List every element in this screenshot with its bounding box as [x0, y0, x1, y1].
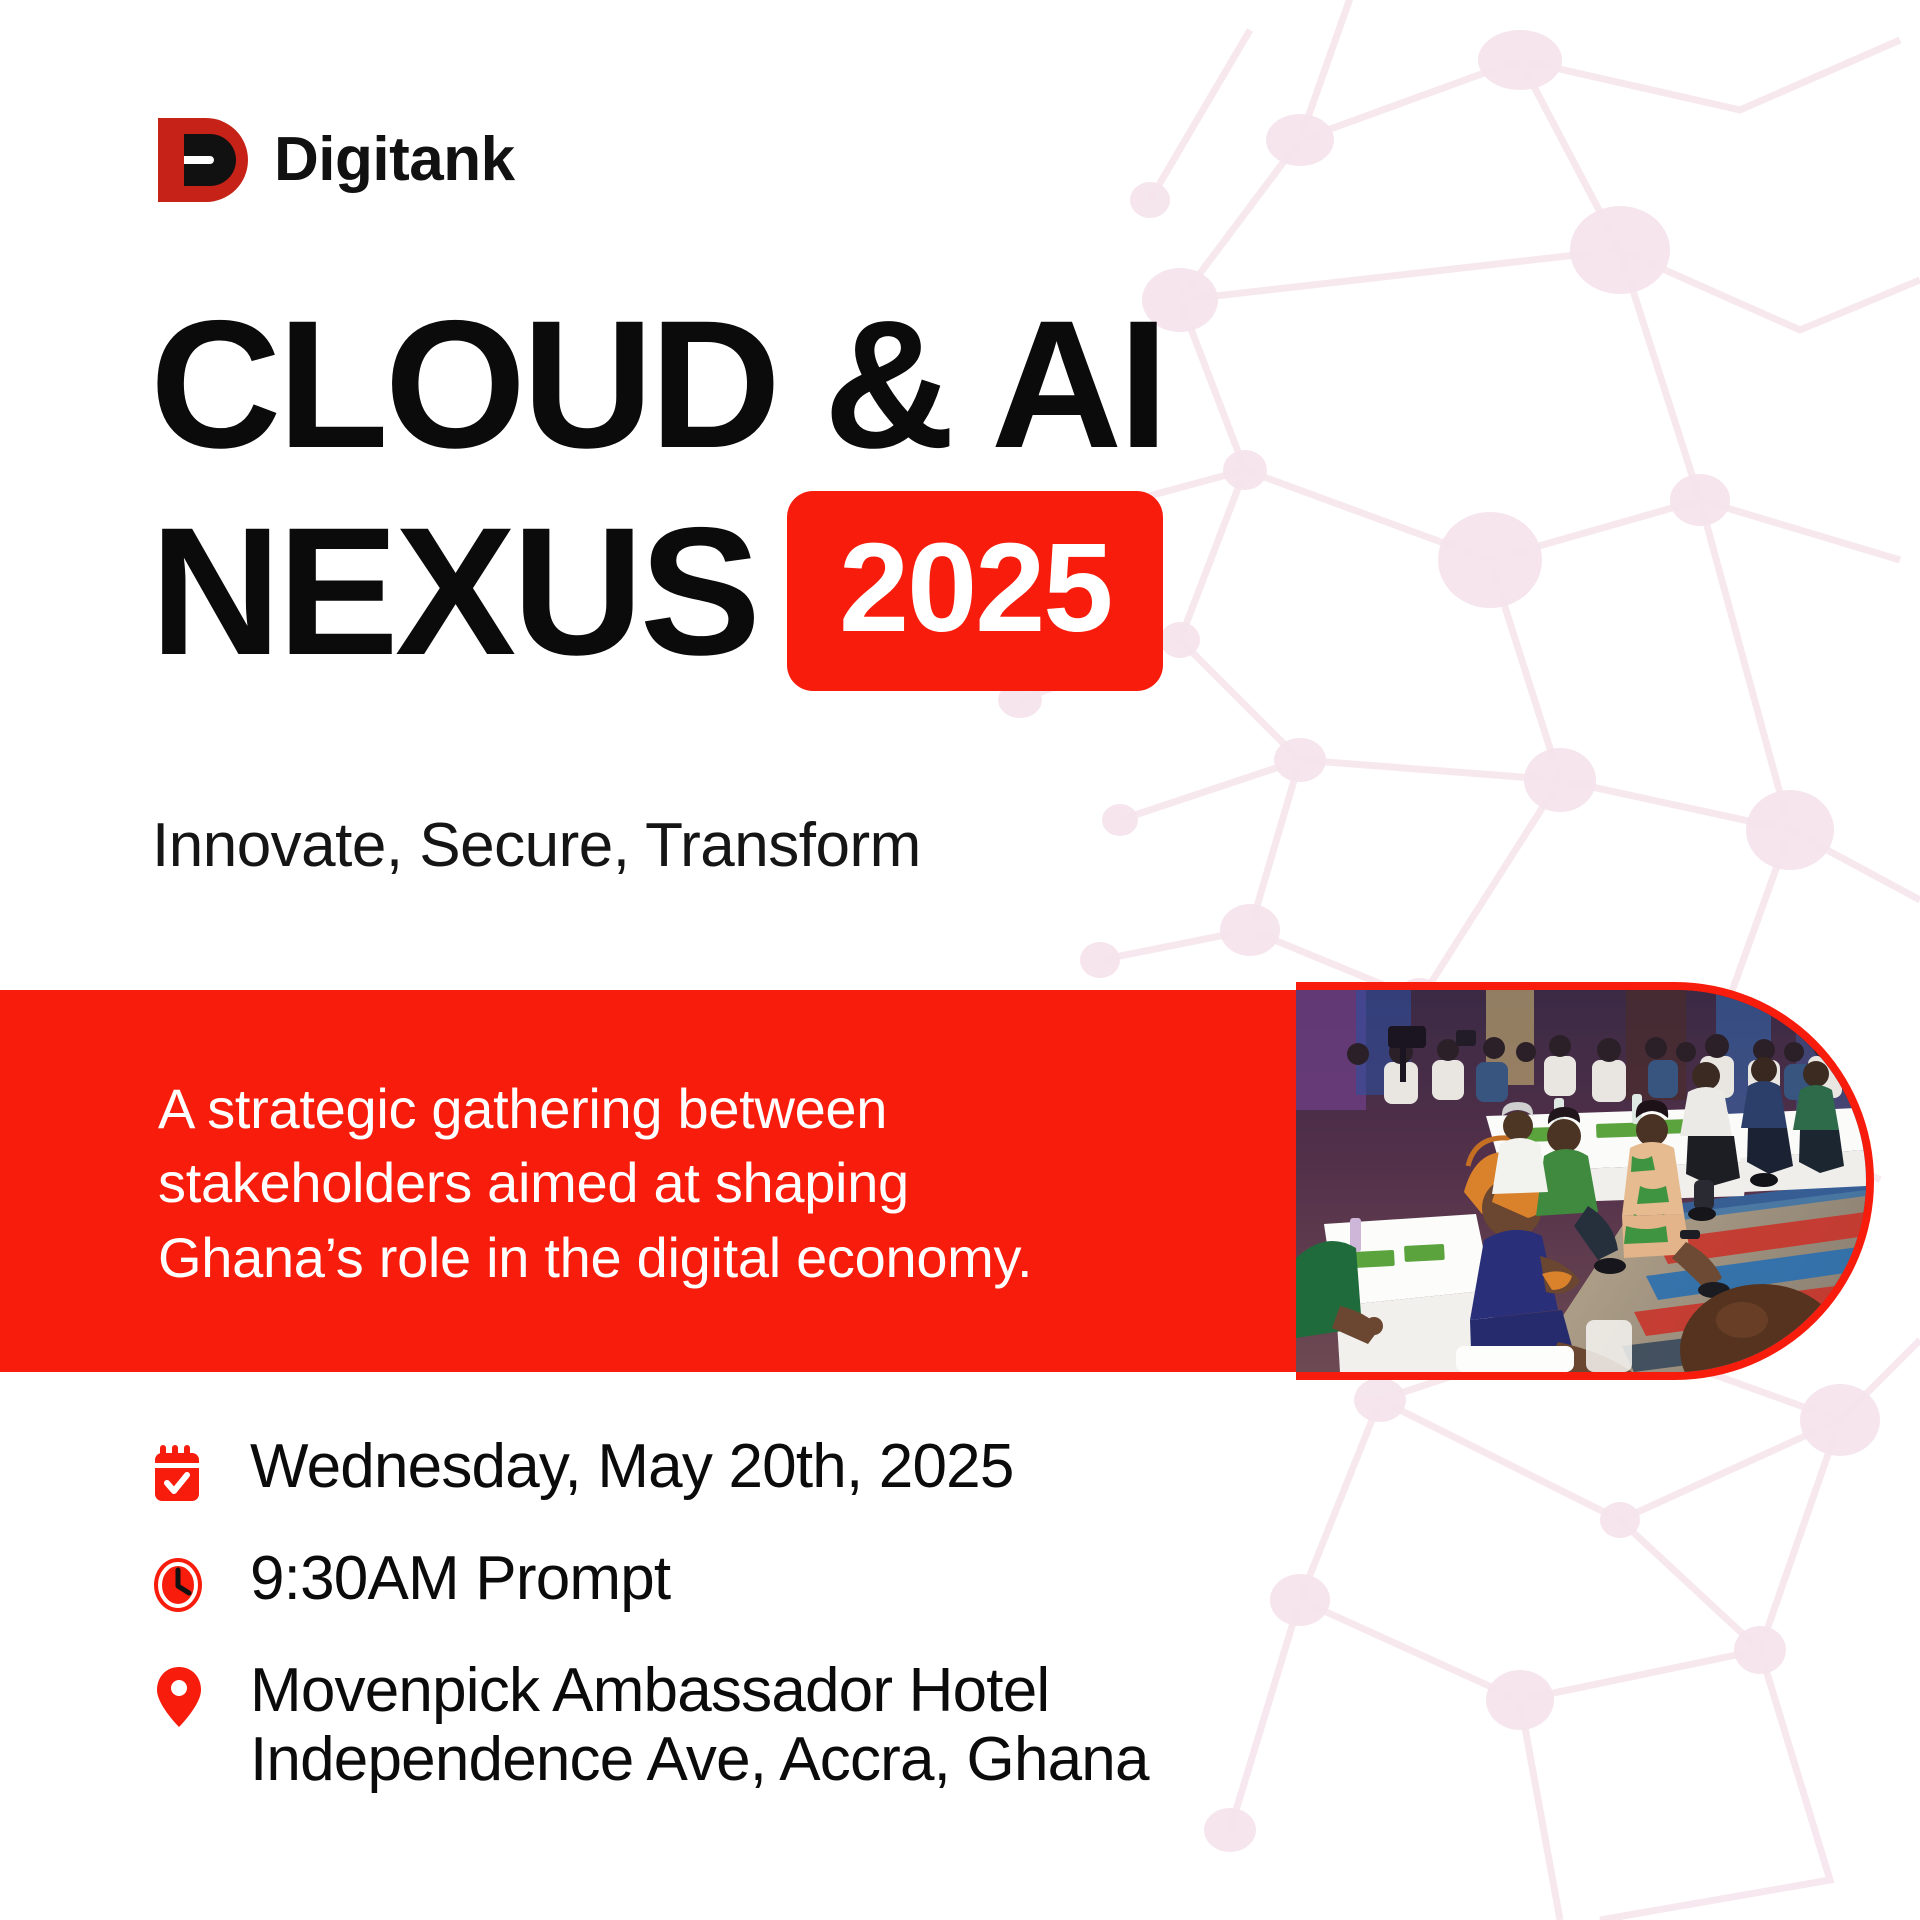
- description-line-3: Ghana’s role in the digital economy.: [158, 1221, 1238, 1295]
- detail-location-text: Movenpick Ambassador Hotel Independence …: [250, 1656, 1149, 1795]
- brand-logo: Digitank: [148, 112, 515, 208]
- headline-block: CLOUD & AI NEXUS 2025: [150, 300, 1165, 691]
- description-text: A strategic gathering between stakeholde…: [158, 1072, 1238, 1295]
- description-line-1: A strategic gathering between: [158, 1072, 1238, 1146]
- headline-line-2: NEXUS: [150, 507, 757, 676]
- detail-date-text: Wednesday, May 20th, 2025: [250, 1432, 1014, 1501]
- tagline: Innovate, Secure, Transform: [152, 810, 921, 881]
- headline-line-1: CLOUD & AI: [150, 300, 1165, 469]
- detail-time-text: 9:30AM Prompt: [250, 1544, 670, 1613]
- description-line-2: stakeholders aimed at shaping: [158, 1146, 1238, 1220]
- detail-row-location: Movenpick Ambassador Hotel Independence …: [150, 1656, 1149, 1795]
- clock-icon: [150, 1544, 208, 1620]
- location-pin-icon: [150, 1656, 208, 1732]
- event-poster: Digitank CLOUD & AI NEXUS 2025 Innovate,…: [0, 0, 1920, 1920]
- brand-name: Digitank: [274, 129, 515, 191]
- conference-photo-frame: [1296, 982, 1874, 1380]
- year-badge: 2025: [787, 491, 1163, 691]
- conference-audience-photo: [1296, 990, 1866, 1372]
- digitank-d-logo-icon: [148, 112, 252, 208]
- detail-row-time: 9:30AM Prompt: [150, 1544, 1149, 1620]
- headline-line-2-row: NEXUS 2025: [150, 491, 1165, 691]
- calendar-icon: [150, 1432, 208, 1508]
- event-details-list: Wednesday, May 20th, 2025 9:30AM Prompt …: [150, 1432, 1149, 1831]
- detail-row-date: Wednesday, May 20th, 2025: [150, 1432, 1149, 1508]
